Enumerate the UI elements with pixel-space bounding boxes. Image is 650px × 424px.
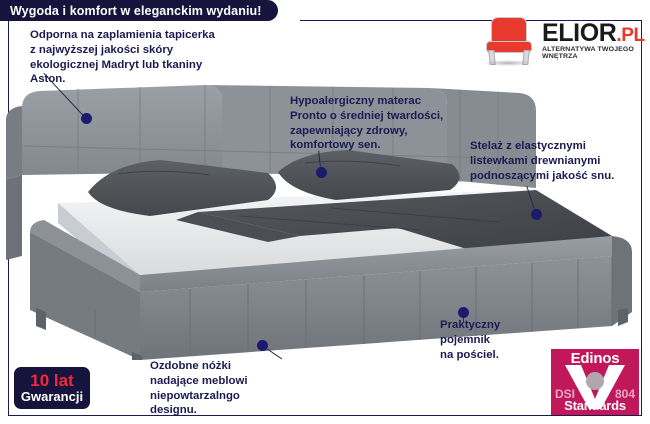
callout-text-mattress: Hypoalergiczny materac Pronto o średniej… [290,94,480,153]
callout-line: nadające meblowi [150,374,340,389]
callout-line: komfortowy sen. [290,138,480,153]
callout-line: podnoszącymi jakość snu. [470,169,650,184]
logo-tagline: ALTERNATYWA TWOJEGO WNĘTRZA [542,46,650,60]
title-banner: Wygoda i komfort w eleganckim wydaniu! [0,0,278,21]
edinos-brand: Edinos [551,350,639,367]
logo-name: ELIOR [542,19,616,47]
callout-line: Ozdobne nóżki [150,359,340,374]
warranty-years: 10 lat [30,372,73,389]
callout-text-legs: Ozdobne nóżki nadające meblowi niepowtar… [150,359,340,418]
callout-line: Stelaż z elastycznymi [470,139,650,154]
logo-domain: .PL [616,25,644,46]
callout-line: listewkami drewnianymi [470,154,650,169]
callout-line: Praktyczny [440,318,580,333]
callout-line: Pronto o średniej twardości, [290,109,480,124]
callout-line: z najwyższej jakości skóry [30,43,278,58]
callout-line: Aston. [30,72,278,87]
callout-line: ekologicznej Madryt lub tkaniny [30,58,278,73]
callout-line: pojemnik [440,333,580,348]
callout-text-slat-frame: Stelaż z elastycznymi listewkami drewnia… [470,139,650,183]
product-infographic: Wygoda i komfort w eleganckim wydaniu! E… [0,0,650,424]
callout-line: zapewniający zdrowy, [290,124,480,139]
callout-dot-slat-frame[interactable] [531,209,542,220]
red-chair-icon [482,16,534,66]
edinos-certification-badge: Edinos DSI 804 Standards [551,349,639,415]
warranty-badge: 10 lat Gwarancji [14,367,90,409]
callout-dot-storage[interactable] [458,307,469,318]
edinos-label: Standards [551,398,639,413]
callout-line: Odporna na zaplamienia tapicerka [30,28,278,43]
brand-logo[interactable]: ELIOR.PL ALTERNATYWA TWOJEGO WNĘTRZA [482,14,642,68]
logo-wordmark: ELIOR.PL ALTERNATYWA TWOJEGO WNĘTRZA [542,22,645,61]
callout-line: niepowtarzalngo [150,389,340,404]
banner-title: Wygoda i komfort w eleganckim wydaniu! [10,4,262,18]
callout-text-upholstery: Odporna na zaplamienia tapicerka z najwy… [30,28,278,87]
callout-dot-mattress[interactable] [316,167,327,178]
callout-dot-upholstery[interactable] [81,113,92,124]
callout-line: designu. [150,403,340,418]
warranty-label: Gwarancji [21,390,83,404]
callout-dot-legs[interactable] [257,340,268,351]
callout-line: Hypoalergiczny materac [290,94,480,109]
